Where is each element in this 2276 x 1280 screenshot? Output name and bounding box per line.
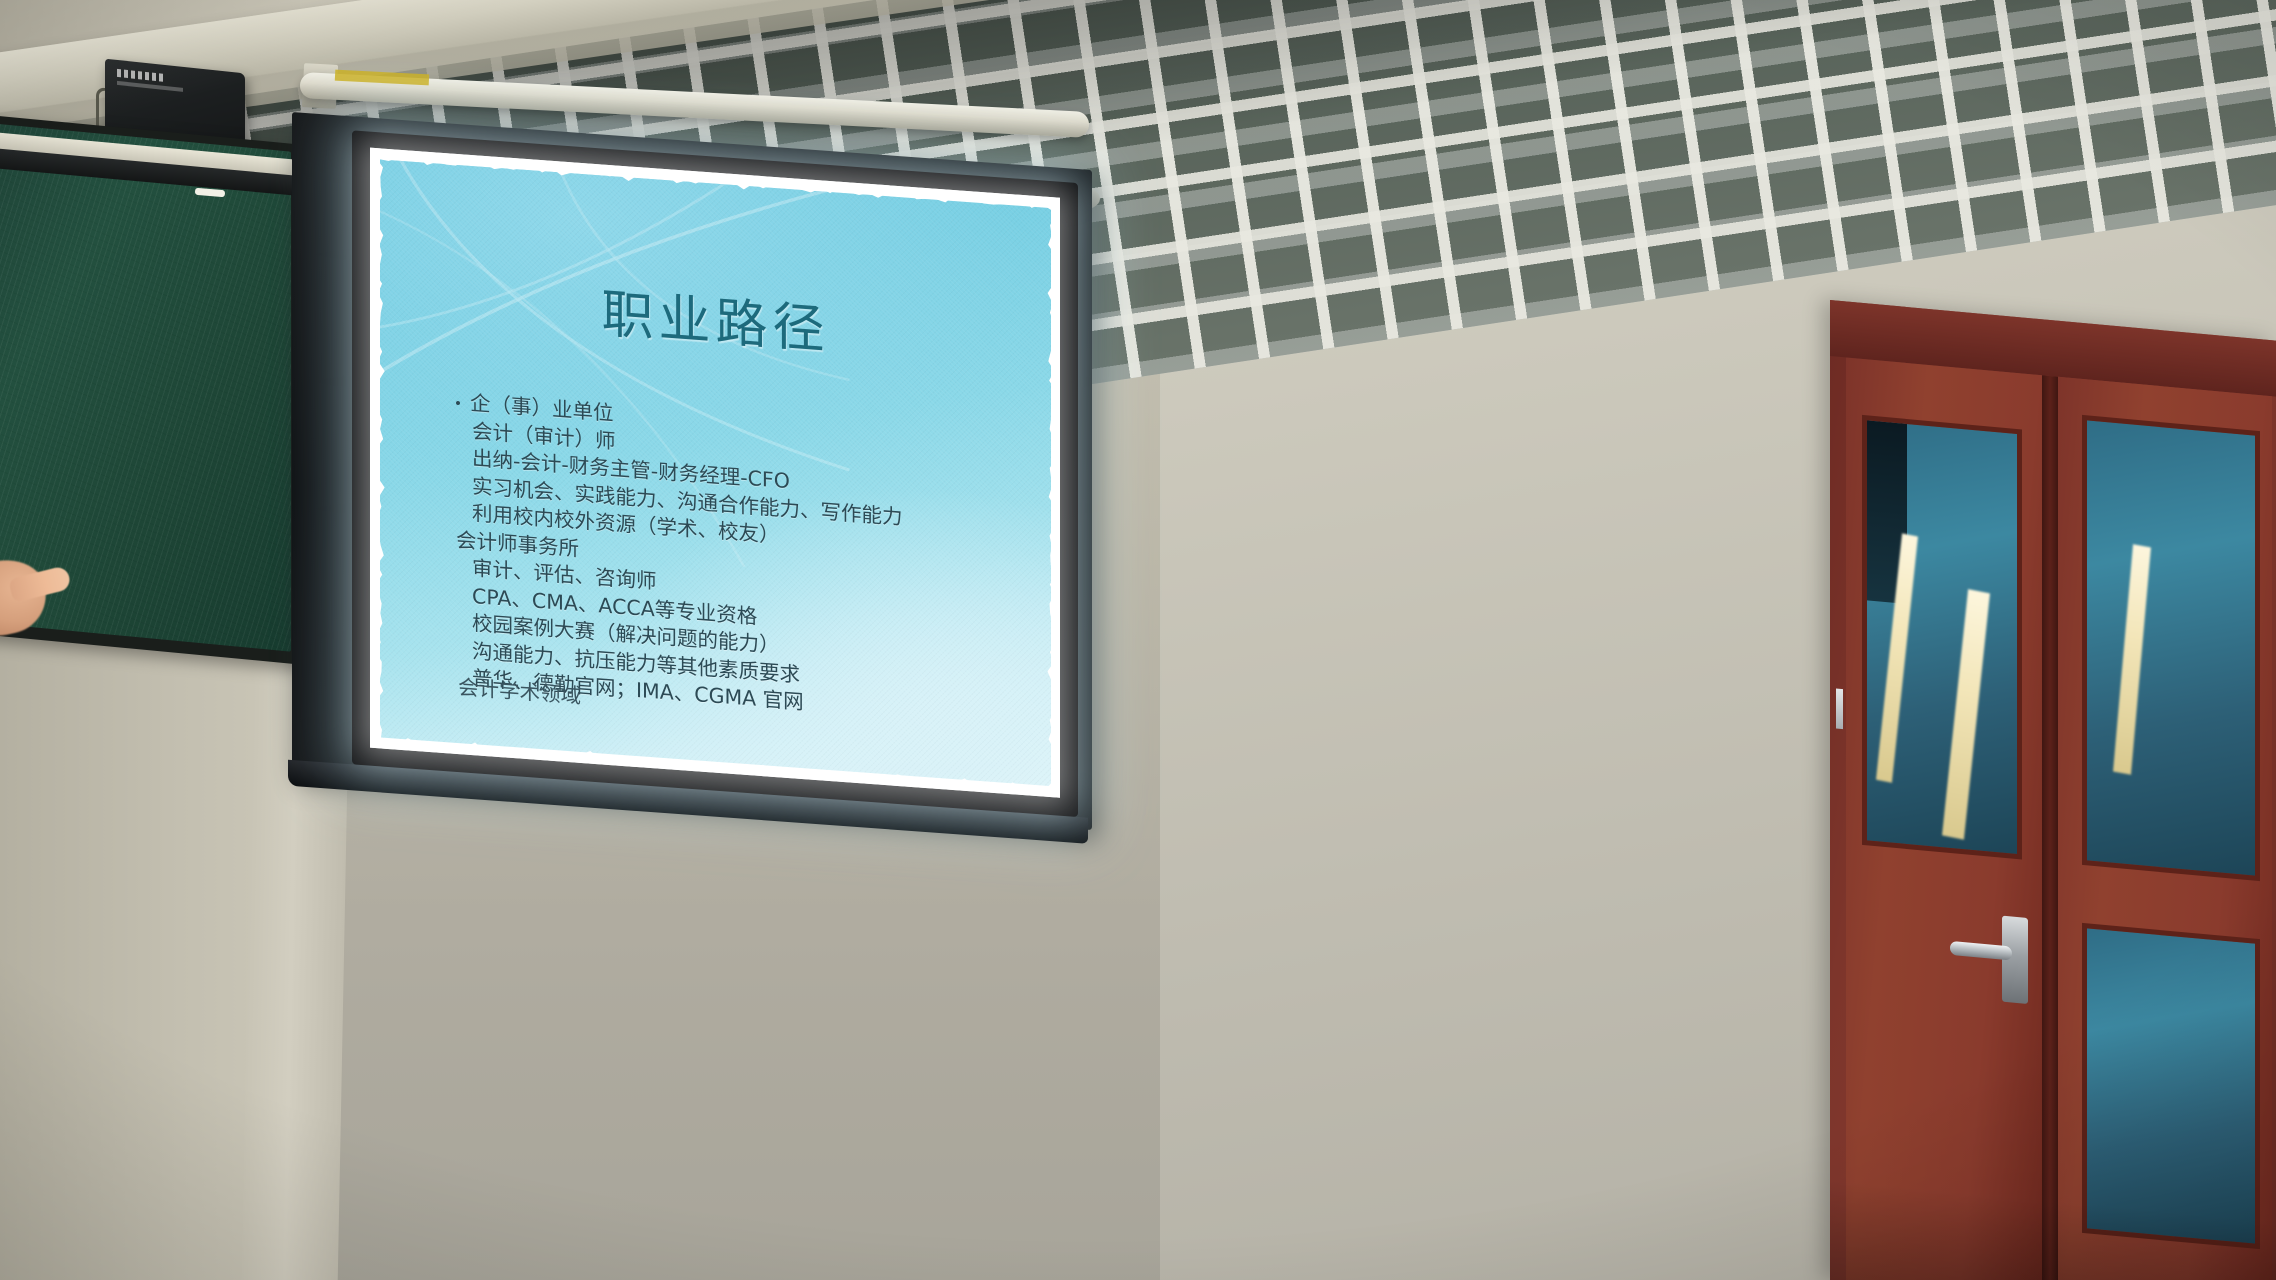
door-center-gap: [2042, 375, 2058, 1280]
door-glass-left: [1862, 415, 2022, 860]
speaker-brand-logo: [117, 69, 163, 82]
projection-screen[interactable]: 职业路径 企（事）业单位会计（审计）师出纳-会计-财务主管-财务经理-CFO实习…: [292, 112, 1092, 830]
classroom-photo: 职业路径 企（事）业单位会计（审计）师出纳-会计-财务主管-财务经理-CFO实习…: [0, 0, 2276, 1280]
glass-glare-3: [2113, 544, 2151, 775]
door-strike-plate: [1836, 689, 1843, 730]
screen-projection-area: 职业路径 企（事）业单位会计（审计）师出纳-会计-财务主管-财务经理-CFO实习…: [370, 148, 1060, 798]
glass-glare-2: [1942, 589, 1990, 840]
door-glass-right-upper: [2082, 415, 2260, 881]
door-glass-right-lower: [2082, 923, 2260, 1249]
slide-canvas: 职业路径 企（事）业单位会计（审计）师出纳-会计-财务主管-财务经理-CFO实习…: [380, 159, 1051, 786]
classroom-door[interactable]: [1830, 300, 2276, 1280]
bullet-dot-icon: [456, 401, 460, 405]
speaker-brand-subtext: [117, 81, 183, 92]
